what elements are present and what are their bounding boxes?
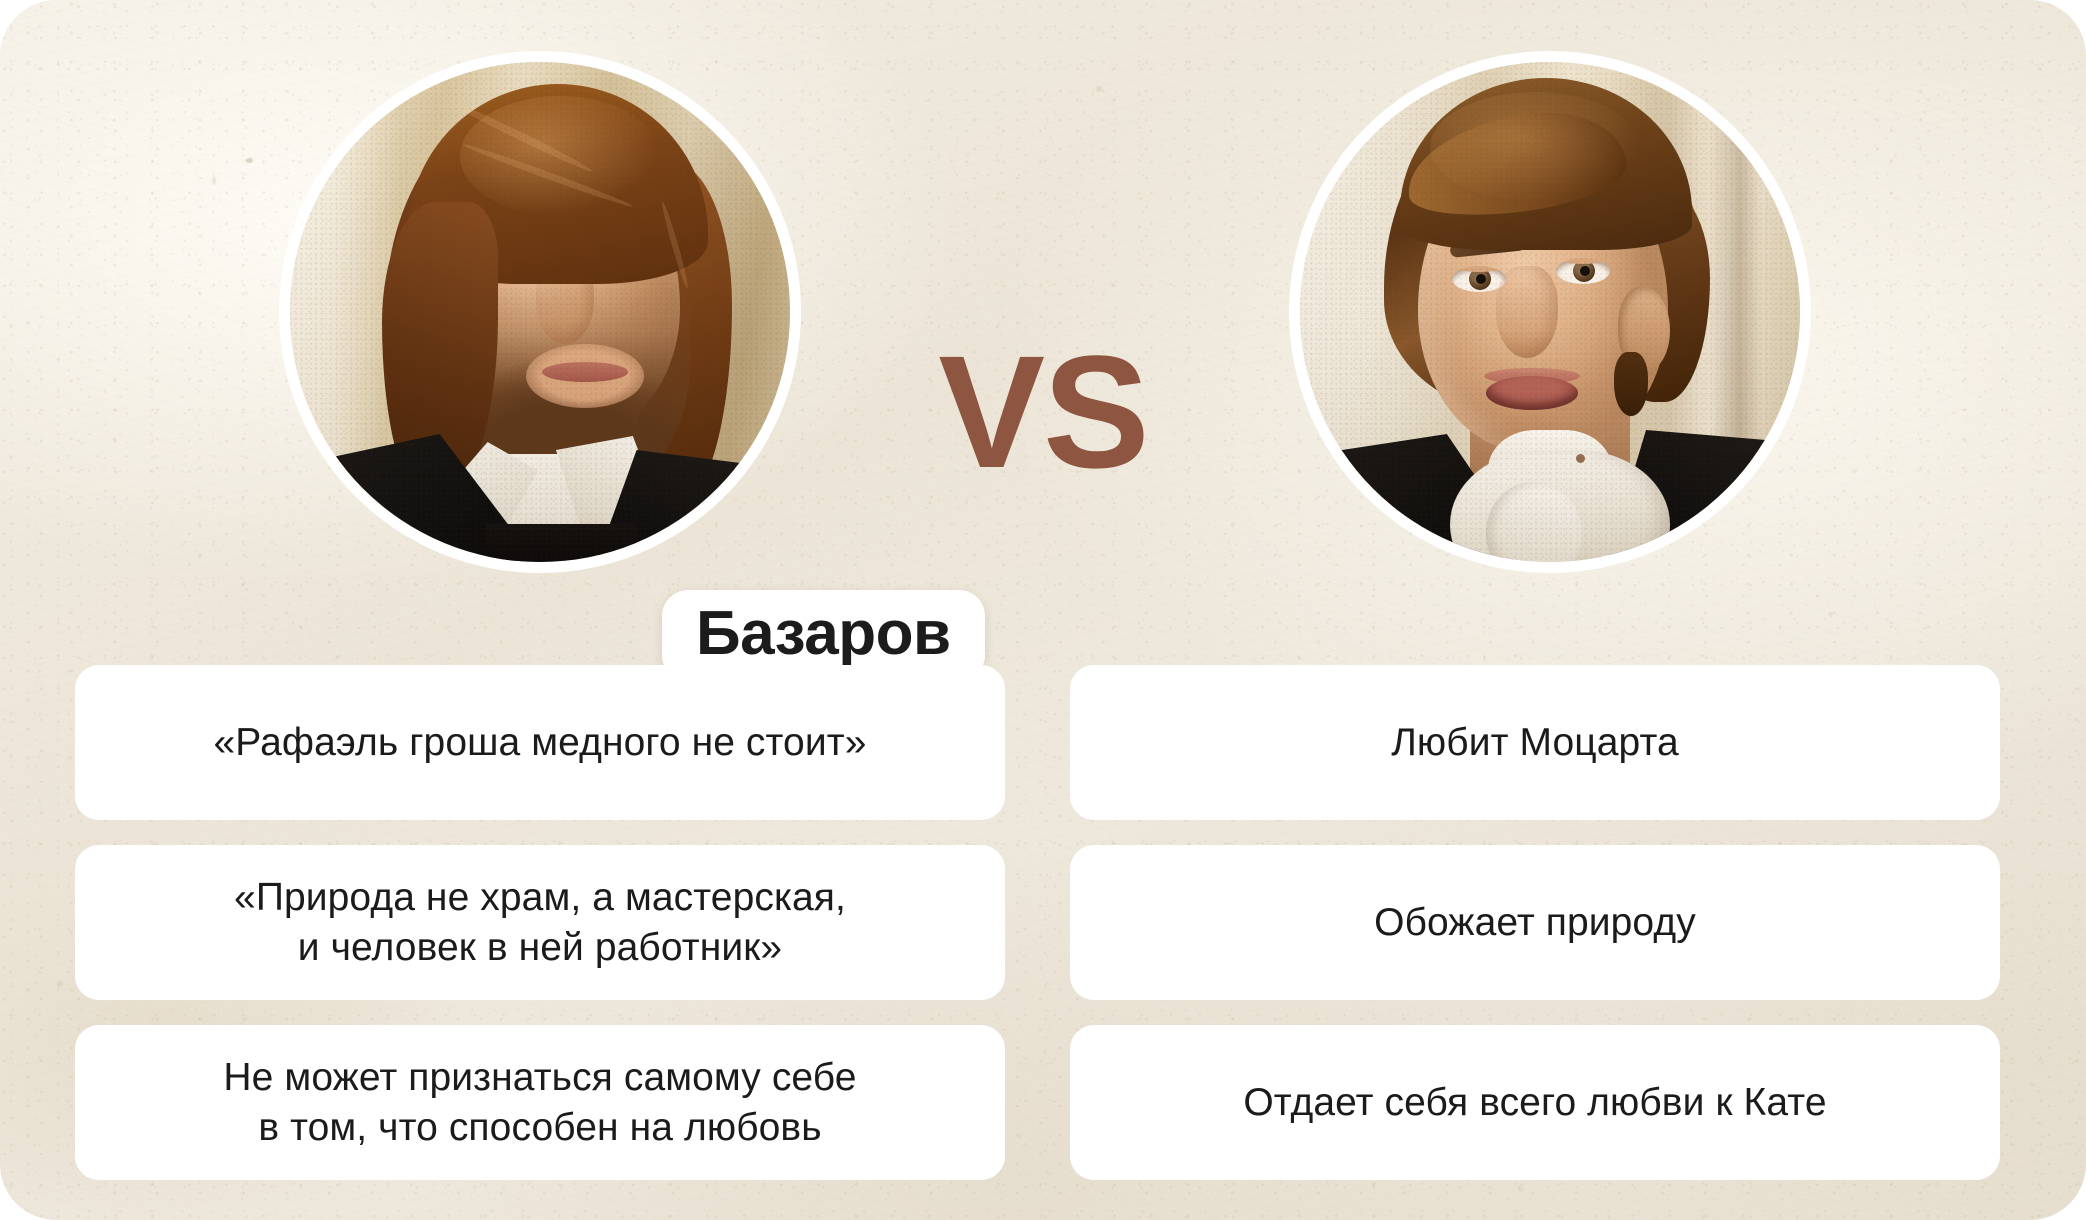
fact-text: Отдает себя всего любви к Кате — [1243, 1078, 1826, 1128]
fact-card: Любит Моцарта — [1070, 665, 2000, 820]
fact-column-arkady: Любит Моцарта Обожает природу Отдает себ… — [1070, 665, 2000, 1180]
fact-card: Не может признаться самому себев том, чт… — [75, 1025, 1005, 1180]
fact-column-bazarov: «Рафаэль гроша медного не стоит» «Природ… — [75, 665, 1005, 1180]
fact-card: «Природа не храм, а мастерская,и человек… — [75, 845, 1005, 1000]
hero-row: Базаров VS — [0, 62, 2086, 582]
fact-card: Отдает себя всего любви к Кате — [1070, 1025, 2000, 1180]
portrait-avatar-bazarov — [290, 62, 790, 562]
comparison-card: Базаров VS — [0, 0, 2086, 1220]
fact-columns: «Рафаэль гроша медного не стоит» «Природ… — [75, 665, 2000, 1180]
portrait-avatar-arkady — [1300, 62, 1800, 562]
fact-card: Обожает природу — [1070, 845, 2000, 1000]
fact-text: «Рафаэль гроша медного не стоит» — [214, 718, 867, 768]
fact-text: Обожает природу — [1374, 898, 1696, 948]
fact-text: Любит Моцарта — [1391, 718, 1679, 768]
fact-card: «Рафаэль гроша медного не стоит» — [75, 665, 1005, 820]
fact-text: «Природа не храм, а мастерская,и человек… — [234, 873, 846, 973]
vs-label: VS — [938, 332, 1147, 492]
fact-text: Не может признаться самому себев том, чт… — [223, 1053, 856, 1153]
character-left: Базаров — [290, 62, 790, 562]
character-right: Аркадий — [1300, 62, 1800, 562]
